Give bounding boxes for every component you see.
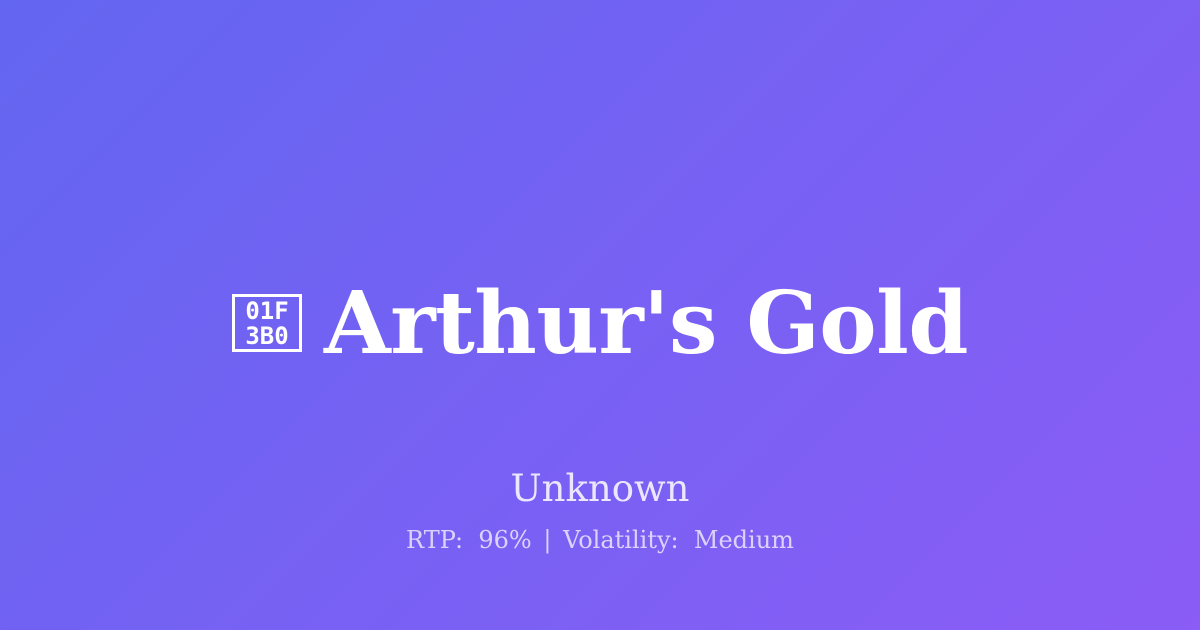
slot-machine-icon: 01F 3B0	[232, 294, 302, 352]
game-og-card: 01F 3B0 Arthur's Gold Unknown RTP: 96% |…	[0, 0, 1200, 630]
title-row: 01F 3B0 Arthur's Gold	[232, 222, 968, 425]
slot-machine-icon-codepoint-low: 3B0	[245, 324, 288, 349]
volatility-value: Medium	[694, 526, 794, 554]
slot-machine-icon-codepoint-high: 01F	[245, 299, 288, 324]
provider-subtitle: Unknown	[510, 469, 689, 510]
rtp-label: RTP:	[406, 526, 463, 554]
hero-block: 01F 3B0 Arthur's Gold Unknown	[0, 222, 1200, 510]
game-stats-line: RTP: 96% | Volatility: Medium	[0, 526, 1200, 555]
volatility-value-spacer	[686, 526, 694, 554]
volatility-label: Volatility:	[563, 526, 679, 554]
page-title: Arthur's Gold	[324, 280, 968, 368]
rtp-value: 96%	[478, 526, 531, 554]
stats-separator: |	[539, 526, 555, 554]
